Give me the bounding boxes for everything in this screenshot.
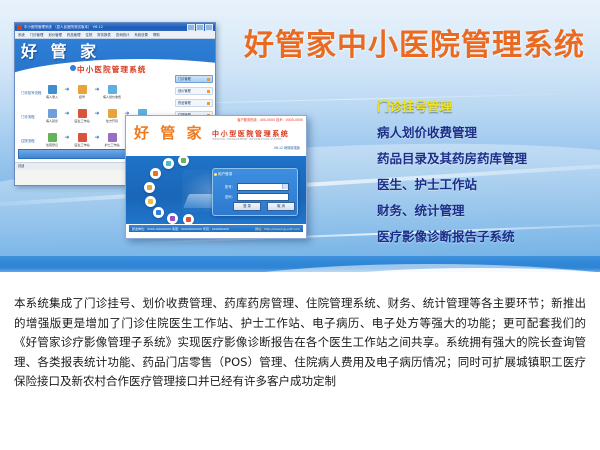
login-header: 客户服务热线：400-0000 技术：0000-0000 好 管 家 中小型医院… [126, 116, 306, 156]
app-subtitle: 中小医院管理系统 [77, 64, 147, 75]
menu-item-2[interactable]: 划价管理 [48, 32, 62, 38]
menu-item-0[interactable]: 系统 [18, 32, 25, 38]
username-input[interactable] [237, 183, 289, 191]
arrow-right-icon: ➜ [93, 109, 101, 119]
menu-item-3[interactable]: 药品管理 [67, 32, 81, 38]
feature-item-2: 药品目录及其药房药库管理 [377, 152, 597, 165]
node-label: 处方开具 [106, 119, 118, 123]
cancel-button[interactable]: 取 消 [267, 202, 295, 211]
feature-item-3: 医生、护士工作站 [377, 178, 597, 191]
person-icon [150, 168, 161, 179]
chevron-right-icon [207, 78, 210, 81]
workflow-node: 病人录入 [41, 85, 63, 99]
chart-icon [183, 214, 194, 224]
login-footer: 研发单位：0000-00000000 客服：00000000000 传真：000… [126, 224, 306, 236]
plane-icon [163, 158, 174, 169]
feature-item-1: 病人划价收费管理 [377, 126, 597, 139]
workflow-node: 病人划价收费 [101, 85, 123, 99]
workflow-row-label: 住院流程 [21, 133, 41, 149]
description-paragraph: 本系统集成了门诊挂号、划价收费管理、药库药房管理、住院管理系统、财务、统计管理等… [14, 294, 586, 392]
username-label: 账号： [221, 184, 235, 190]
node-label: 病人就诊 [46, 119, 58, 123]
flask-icon [145, 196, 156, 207]
login-version: V6.12 网络增强版 [274, 146, 300, 151]
workflow-row-label: 门诊挂号流程 [21, 85, 41, 101]
login-footer-bar: 研发单位：0000-00000000 客服：00000000000 传真：000… [129, 225, 303, 232]
menu-item-7[interactable]: 系统设置 [134, 32, 148, 38]
sidebar-item-label: 划价管理 [178, 89, 191, 94]
leaf-icon [178, 156, 189, 166]
node-label: 医生工作站 [74, 143, 89, 147]
menu-item-8[interactable]: 帮助 [153, 32, 160, 38]
sidebar-item-drugs[interactable]: 药品管理 [175, 99, 213, 107]
feature-item-0: 门诊挂号管理 [377, 100, 597, 113]
workflow-node: 医生工作站 [71, 133, 93, 147]
node-icon [78, 109, 87, 118]
login-buttons: 登 录 取 消 [233, 202, 295, 211]
book-icon [167, 213, 178, 224]
workflow-node: 医生工作站 [71, 109, 93, 123]
feature-item-4: 财务、统计管理 [377, 204, 597, 217]
vendor-contact: 研发单位：0000-00000000 客服：00000000000 传真：000… [132, 227, 229, 231]
login-panel: 用户登录 账号： 密码： 登 录 取 消 [212, 168, 298, 216]
workflow-row: 门诊挂号流程 病人录入 ➜ 挂号 ➜ 病人划价收费 [21, 85, 169, 101]
arrow-right-icon: ➜ [63, 133, 71, 143]
vendor-website-link[interactable]: 网址：http://www.hgj-soft.com [255, 227, 300, 231]
panel-bullet-icon [214, 173, 217, 176]
page-root: 好管家中小医院管理系统 门诊挂号管理 病人划价收费管理 药品目录及其药房药库管理… [0, 0, 600, 450]
login-logo: 好 管 家 [134, 124, 204, 142]
node-icon [108, 133, 117, 142]
pill-icon [153, 207, 164, 218]
sidebar-item-pricing[interactable]: 划价管理 [175, 87, 213, 95]
arrow-right-icon: ➜ [93, 133, 101, 143]
menu-item-4[interactable]: 住院 [85, 32, 92, 38]
password-label: 密码： [221, 194, 235, 200]
sidebar-item-outpatient[interactable]: 门诊管理 [175, 75, 213, 83]
node-label: 医生工作站 [74, 119, 89, 123]
app-subtitle-dot-icon [70, 65, 76, 71]
chevron-right-icon [207, 102, 210, 105]
username-row: 账号： [221, 183, 289, 191]
maximize-icon[interactable] [196, 24, 204, 31]
chevron-right-icon [207, 90, 210, 93]
window-titlebar: 中小医院管理系统 （县人民医院测试版本） V6.12 [15, 23, 215, 31]
login-window-screenshot: 客户服务热线：400-0000 技术：0000-0000 好 管 家 中小型医院… [125, 115, 307, 239]
menu-item-5[interactable]: 财务报表 [97, 32, 111, 38]
password-input[interactable] [237, 193, 289, 201]
mail-icon [144, 182, 155, 193]
close-icon[interactable] [205, 24, 213, 31]
node-label: 挂号 [79, 95, 85, 99]
node-icon [48, 109, 57, 118]
arrow-right-icon: ➜ [63, 109, 71, 119]
login-system-name: 中小型医院管理系统 [212, 130, 289, 138]
sidebar-item-label: 药品管理 [178, 101, 191, 106]
login-panel-title: 用户登录 [218, 172, 232, 177]
menu-item-6[interactable]: 查询统计 [116, 32, 130, 38]
feature-item-5: 医疗影像诊断报告子系统 [377, 230, 597, 243]
page-title: 好管家中小医院管理系统 [244, 20, 585, 64]
minimize-icon[interactable] [187, 24, 195, 31]
sidebar-item-label: 门诊管理 [178, 77, 191, 82]
login-system-name-en: HOSPITAL MANAGEMENT INFORMATION SYSTEM [212, 138, 282, 142]
window-controls [187, 24, 213, 31]
node-icon [78, 133, 87, 142]
node-icon [48, 85, 57, 94]
arrow-right-icon: ➜ [93, 85, 101, 95]
node-label: 病人划价收费 [103, 95, 121, 99]
login-button[interactable]: 登 录 [233, 202, 261, 211]
node-icon [78, 85, 87, 94]
menu-bar: 系统 门诊管理 划价管理 药品管理 住院 财务报表 查询统计 系统设置 帮助 [15, 31, 215, 39]
app-icon [17, 25, 22, 30]
password-row: 密码： [221, 193, 289, 201]
workflow-row-label: 门诊流程 [21, 109, 41, 125]
workflow-node: 护士工作站 [101, 133, 123, 147]
feature-list: 门诊挂号管理 病人划价收费管理 药品目录及其药房药库管理 医生、护士工作站 财务… [377, 100, 597, 256]
node-label: 住院登记 [46, 143, 58, 147]
workflow-node: 住院登记 [41, 133, 63, 147]
node-label: 护士工作站 [104, 143, 119, 147]
node-icon [108, 85, 117, 94]
arrow-right-icon: ➜ [63, 85, 71, 95]
workflow-node: 挂号 [71, 85, 93, 99]
window-title: 中小医院管理系统 （县人民医院测试版本） V6.12 [24, 25, 187, 30]
status-text: 就绪 [18, 164, 24, 169]
chevron-down-icon[interactable] [282, 184, 288, 189]
workflow-node: 处方开具 [101, 109, 123, 123]
node-icon [48, 133, 57, 142]
login-body: 用户登录 账号： 密码： 登 录 取 消 [126, 156, 306, 224]
app-logo: 好 管 家 [21, 43, 100, 61]
workflow-node: 病人就诊 [41, 109, 63, 123]
node-label: 病人录入 [46, 95, 58, 99]
node-icon [108, 109, 117, 118]
menu-item-1[interactable]: 门诊管理 [30, 32, 44, 38]
service-hotline: 客户服务热线：400-0000 技术：0000-0000 [237, 118, 303, 123]
